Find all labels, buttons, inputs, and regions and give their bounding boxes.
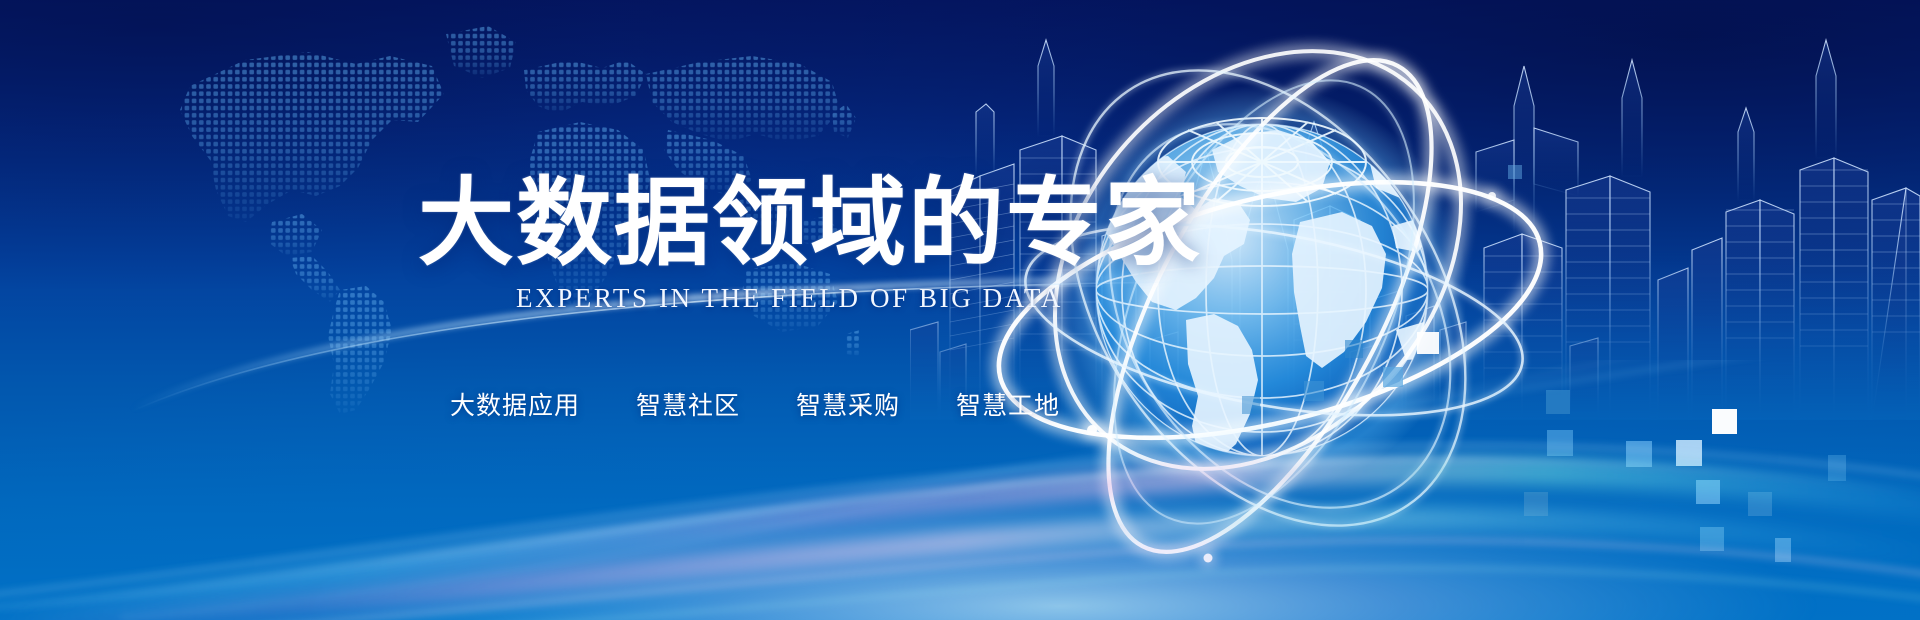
nav-item-smart-construction-site[interactable]: 智慧工地 — [956, 386, 1060, 422]
nav-item-smart-community[interactable]: 智慧社区 — [636, 386, 740, 422]
hero-text-block: 大数据领域的专家 EXPERTS IN THE FIELD OF BIG DAT… — [0, 0, 1100, 620]
page-subtitle: EXPERTS IN THE FIELD OF BIG DATA — [516, 283, 1063, 314]
nav-links: 大数据应用 智慧社区 智慧采购 智慧工地 — [450, 386, 1060, 422]
banner-hero: 大数据领域的专家 EXPERTS IN THE FIELD OF BIG DAT… — [0, 0, 1920, 620]
nav-item-bigdata-application[interactable]: 大数据应用 — [450, 386, 580, 422]
page-title: 大数据领域的专家 — [418, 176, 1202, 272]
nav-item-smart-procurement[interactable]: 智慧采购 — [796, 386, 900, 422]
